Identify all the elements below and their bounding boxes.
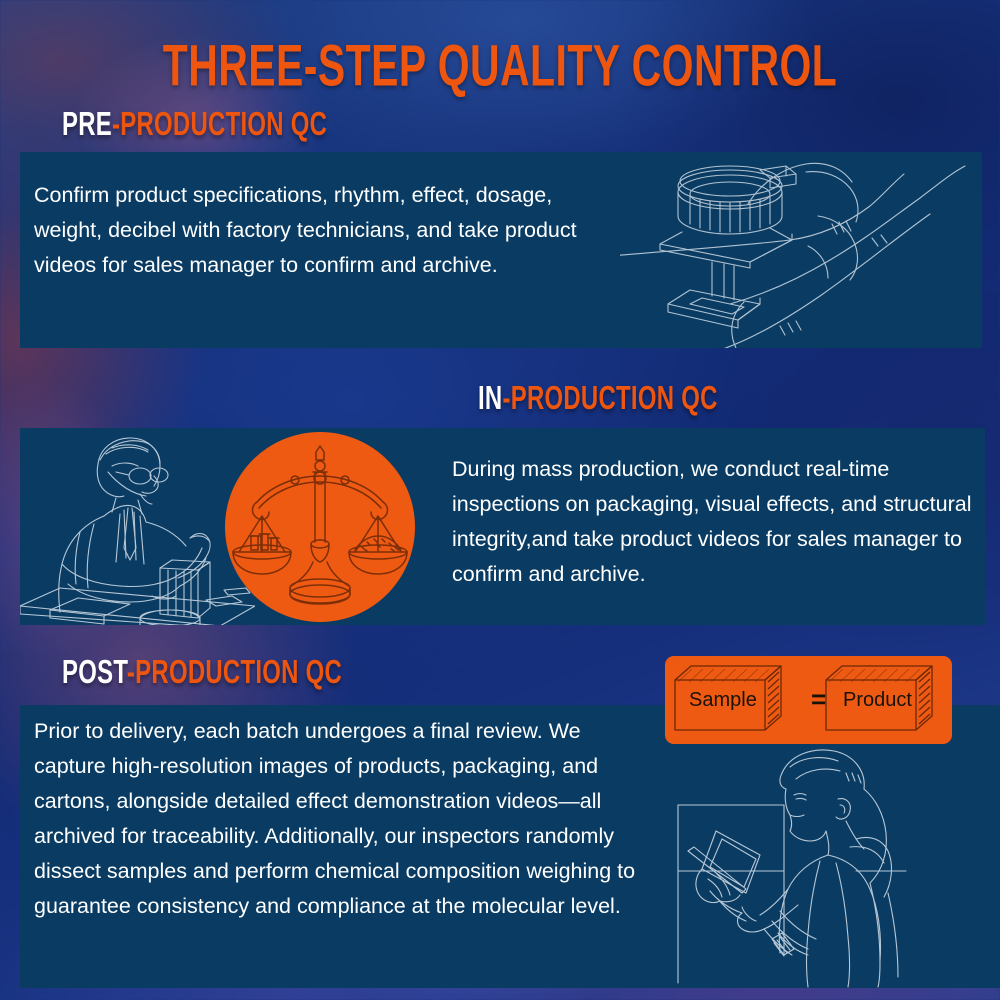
balance-scale-badge (225, 432, 415, 622)
step-heading-orange-part: -PRODUCTION QC (112, 104, 327, 143)
sample-equals-product-badge: Sample = Product (665, 656, 952, 744)
balance-scale-icon (225, 432, 415, 622)
sample-box-label: Sample (689, 689, 757, 712)
equals-sign-label: = (811, 684, 826, 715)
inspector-with-tablet-illustration (660, 743, 1000, 988)
step-heading-pre-production: PRE-PRODUCTION QC (62, 104, 327, 144)
worker-inspecting-illustration (20, 428, 255, 625)
step-heading-white-part: PRE (62, 104, 112, 143)
step-heading-post-production: POST-PRODUCTION QC (62, 652, 342, 692)
hand-holding-product-illustration (620, 152, 982, 348)
step-heading-orange-part: -PRODUCTION QC (502, 378, 717, 417)
product-box-label: Product (843, 689, 912, 712)
step-body-pre-production: Confirm product specifications, rhythm, … (34, 178, 614, 283)
step-heading-white-part: IN (478, 378, 502, 417)
page-title: THREE-STEP QUALITY CONTROL (35, 34, 965, 100)
step-heading-orange-part: -PRODUCTION QC (127, 652, 342, 691)
step-heading-in-production: IN-PRODUCTION QC (478, 378, 718, 418)
step-body-in-production: During mass production, we conduct real-… (452, 452, 982, 592)
step-body-post-production: Prior to delivery, each batch undergoes … (34, 714, 654, 924)
step-heading-white-part: POST (62, 652, 127, 691)
